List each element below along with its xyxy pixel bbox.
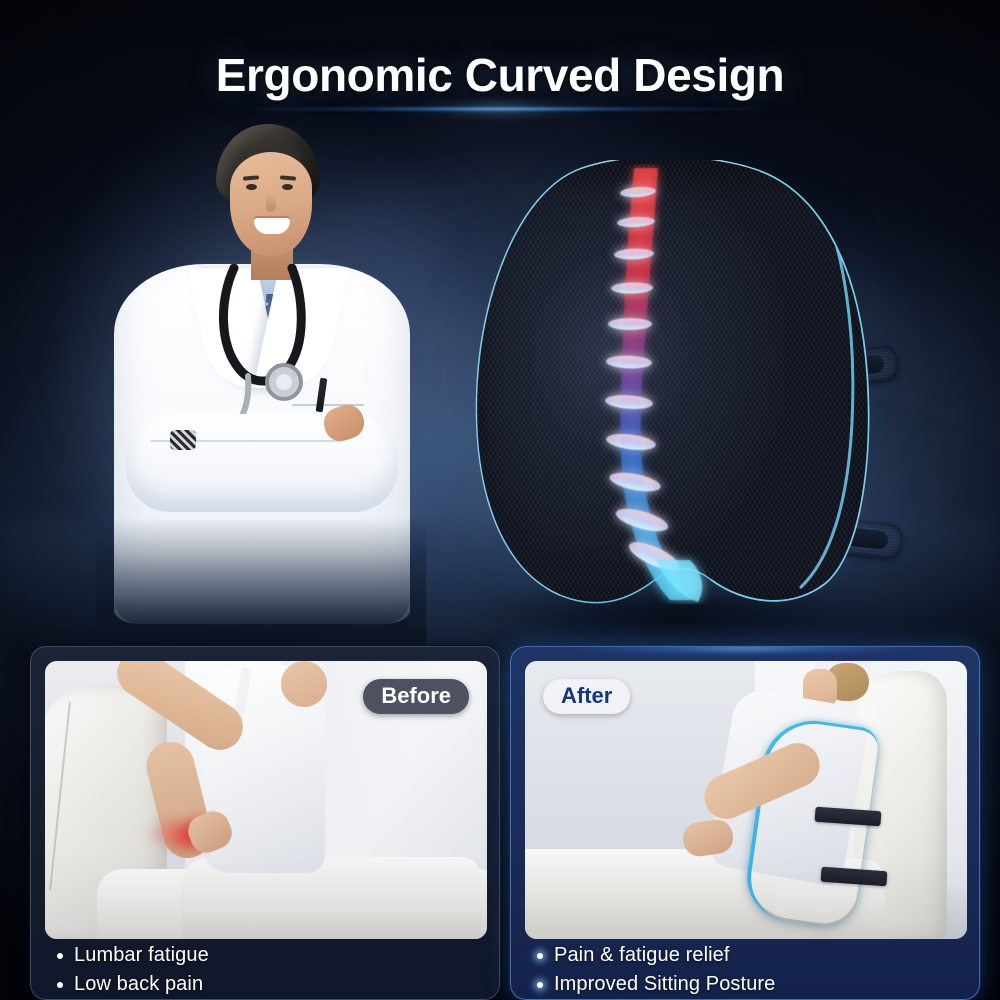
bullet-text: Low back pain: [74, 973, 203, 996]
product-infographic: Ergonomic Curved Design: [0, 0, 1000, 1000]
after-badge: After: [543, 679, 630, 714]
bullet-text: Improved Sitting Posture: [554, 973, 775, 996]
wristwatch: [170, 430, 196, 450]
nose: [266, 194, 276, 212]
after-photo: After: [525, 661, 967, 939]
before-after-comparison: Before Lumbar fatigue Low back pain Spin…: [0, 646, 1000, 1000]
doctor-bottom-fade: [96, 518, 426, 648]
doctor-photo: [96, 118, 426, 623]
list-item: Lumbar fatigue: [57, 941, 477, 970]
list-item: Pain & fatigue relief: [537, 941, 957, 970]
before-photo: Before: [45, 661, 487, 939]
bullet-text: Pain & fatigue relief: [554, 944, 730, 967]
mesh-fabric-texture: [460, 160, 880, 620]
after-panel: After Pain & fatigue relief Improved Sit…: [510, 646, 980, 1000]
page-title: Ergonomic Curved Design: [0, 48, 1000, 102]
title-flare-line: [220, 106, 780, 112]
before-bullet-list: Lumbar fatigue Low back pain Spinal defo…: [57, 941, 477, 1000]
bullet-dot-icon: [57, 953, 63, 959]
before-badge: Before: [363, 679, 469, 714]
bullet-dot-icon: [57, 982, 63, 988]
product-image: [448, 150, 918, 640]
bullet-text: Lumbar fatigue: [74, 944, 209, 967]
eye-right: [282, 184, 293, 190]
bullet-dot-icon: [537, 953, 543, 959]
product-shadow: [468, 580, 888, 650]
lumbar-cushion-body: [460, 160, 880, 620]
bullet-dot-icon: [537, 982, 543, 988]
after-bullet-list: Pain & fatigue relief Improved Sitting P…: [537, 941, 957, 999]
before-panel: Before Lumbar fatigue Low back pain Spin…: [30, 646, 500, 1000]
list-item: Low back pain: [57, 970, 477, 999]
list-item: Improved Sitting Posture: [537, 970, 957, 999]
page-title-wrap: Ergonomic Curved Design: [0, 48, 1000, 102]
eye-left: [246, 184, 257, 190]
